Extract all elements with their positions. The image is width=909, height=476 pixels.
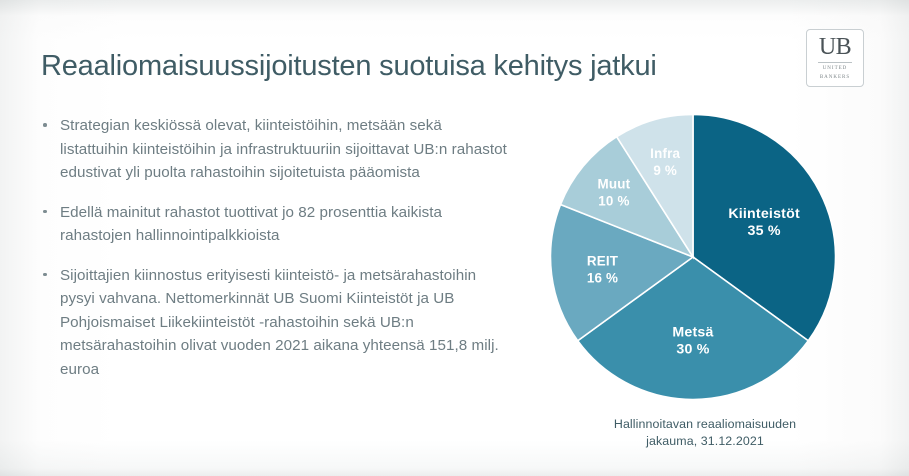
logo-name-line2: BANKERS (820, 75, 850, 81)
pie-label-muut-value: 10 % (598, 194, 629, 209)
bullet-dot-icon (43, 123, 47, 127)
pie-chart: Kiinteistöt 35 % Metsä 30 % REIT 16 % Mu… (550, 114, 836, 400)
list-item-text: Edellä mainitut rahastot tuottivat jo 82… (60, 204, 442, 245)
bullet-list: Strategian keskiössä olevat, kiinteistöi… (40, 114, 510, 381)
list-item: Edellä mainitut rahastot tuottivat jo 82… (40, 201, 510, 248)
pie-label-metsa-name: Metsä (672, 325, 713, 341)
chart-caption: Hallinnoitavan reaaliomaisuuden jakauma,… (540, 416, 870, 450)
logo-name-line1: UNITED (823, 66, 848, 72)
pie-label-kiinteistot-name: Kiinteistöt (728, 206, 800, 222)
bullet-dot-icon (43, 210, 47, 214)
list-item-text: Strategian keskiössä olevat, kiinteistöi… (60, 117, 507, 181)
pie-label-reit-name: REIT (587, 253, 619, 268)
list-item-text: Sijoittajien kiinnostus erityisesti kiin… (60, 267, 499, 378)
pie-label-metsa-value: 30 % (676, 342, 709, 358)
pie-label-muut-name: Muut (598, 177, 631, 192)
pie-label-reit-value: 16 % (587, 270, 618, 285)
pie-label-infra-name: Infra (650, 146, 680, 161)
page-title: Reaaliomaisuussijoitusten suotuisa kehit… (41, 48, 761, 84)
pie-chart-svg: Kiinteistöt 35 % Metsä 30 % REIT 16 % Mu… (550, 114, 836, 400)
chart-container: Kiinteistöt 35 % Metsä 30 % REIT 16 % Mu… (520, 108, 909, 476)
logo-monogram: UB (818, 35, 852, 63)
chart-caption-line1: Hallinnoitavan reaaliomaisuuden (540, 416, 870, 433)
bullet-dot-icon (43, 273, 47, 277)
united-bankers-logo: UB UNITED BANKERS (806, 29, 864, 87)
pie-label-kiinteistot-value: 35 % (748, 223, 781, 239)
pie-label-infra-value: 9 % (653, 163, 677, 178)
list-item: Sijoittajien kiinnostus erityisesti kiin… (40, 264, 510, 382)
list-item: Strategian keskiössä olevat, kiinteistöi… (40, 114, 510, 185)
chart-caption-line2: jakauma, 31.12.2021 (540, 433, 870, 450)
